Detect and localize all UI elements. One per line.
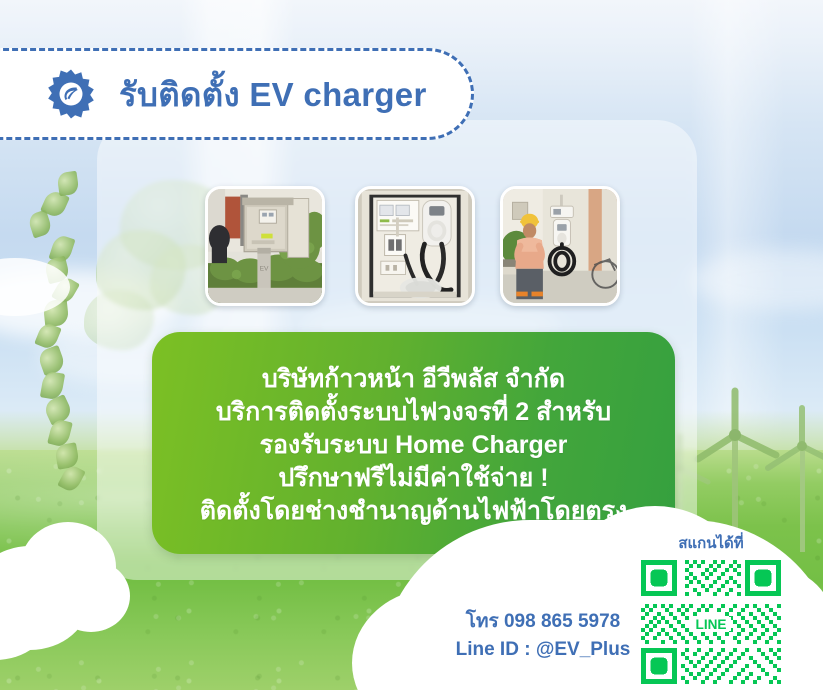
photo-technician[interactable]: [500, 186, 620, 306]
scan-label: สแกนได้ที่: [635, 531, 787, 555]
contact-line-id[interactable]: Line ID : @EV_Plus: [443, 636, 643, 664]
contact-phone[interactable]: โทร 098 865 5978: [443, 608, 643, 636]
qr-center-text: LINE: [696, 617, 727, 632]
contact-block: โทร 098 865 5978 Line ID : @EV_Plus: [443, 608, 643, 663]
photo-gallery: EV: [0, 186, 823, 308]
message-line-1: บริษัทก้าวหน้า อีวีพลัส จำกัด: [262, 363, 565, 396]
message-line-3: รองรับระบบ Home Charger: [260, 429, 568, 462]
message-line-2: บริการติดตั้งระบบไฟวงจรที่ 2 สำหรับ: [216, 396, 611, 429]
gear-leaf-icon: [45, 68, 97, 120]
photo-outdoor-pedestal-charger[interactable]: EV: [205, 186, 325, 306]
photo-cabinet-interior[interactable]: [355, 186, 475, 306]
svg-text:EV: EV: [260, 266, 269, 273]
page-title: รับติดตั้ง EV charger: [119, 78, 427, 111]
header-banner: รับติดตั้ง EV charger: [0, 48, 474, 140]
line-qr-code[interactable]: LINE: [637, 556, 785, 684]
poster-root: รับติดตั้ง EV charger: [0, 0, 823, 690]
message-line-4: ปรึกษาฟรีไม่มีค่าใช้จ่าย !: [278, 462, 548, 495]
